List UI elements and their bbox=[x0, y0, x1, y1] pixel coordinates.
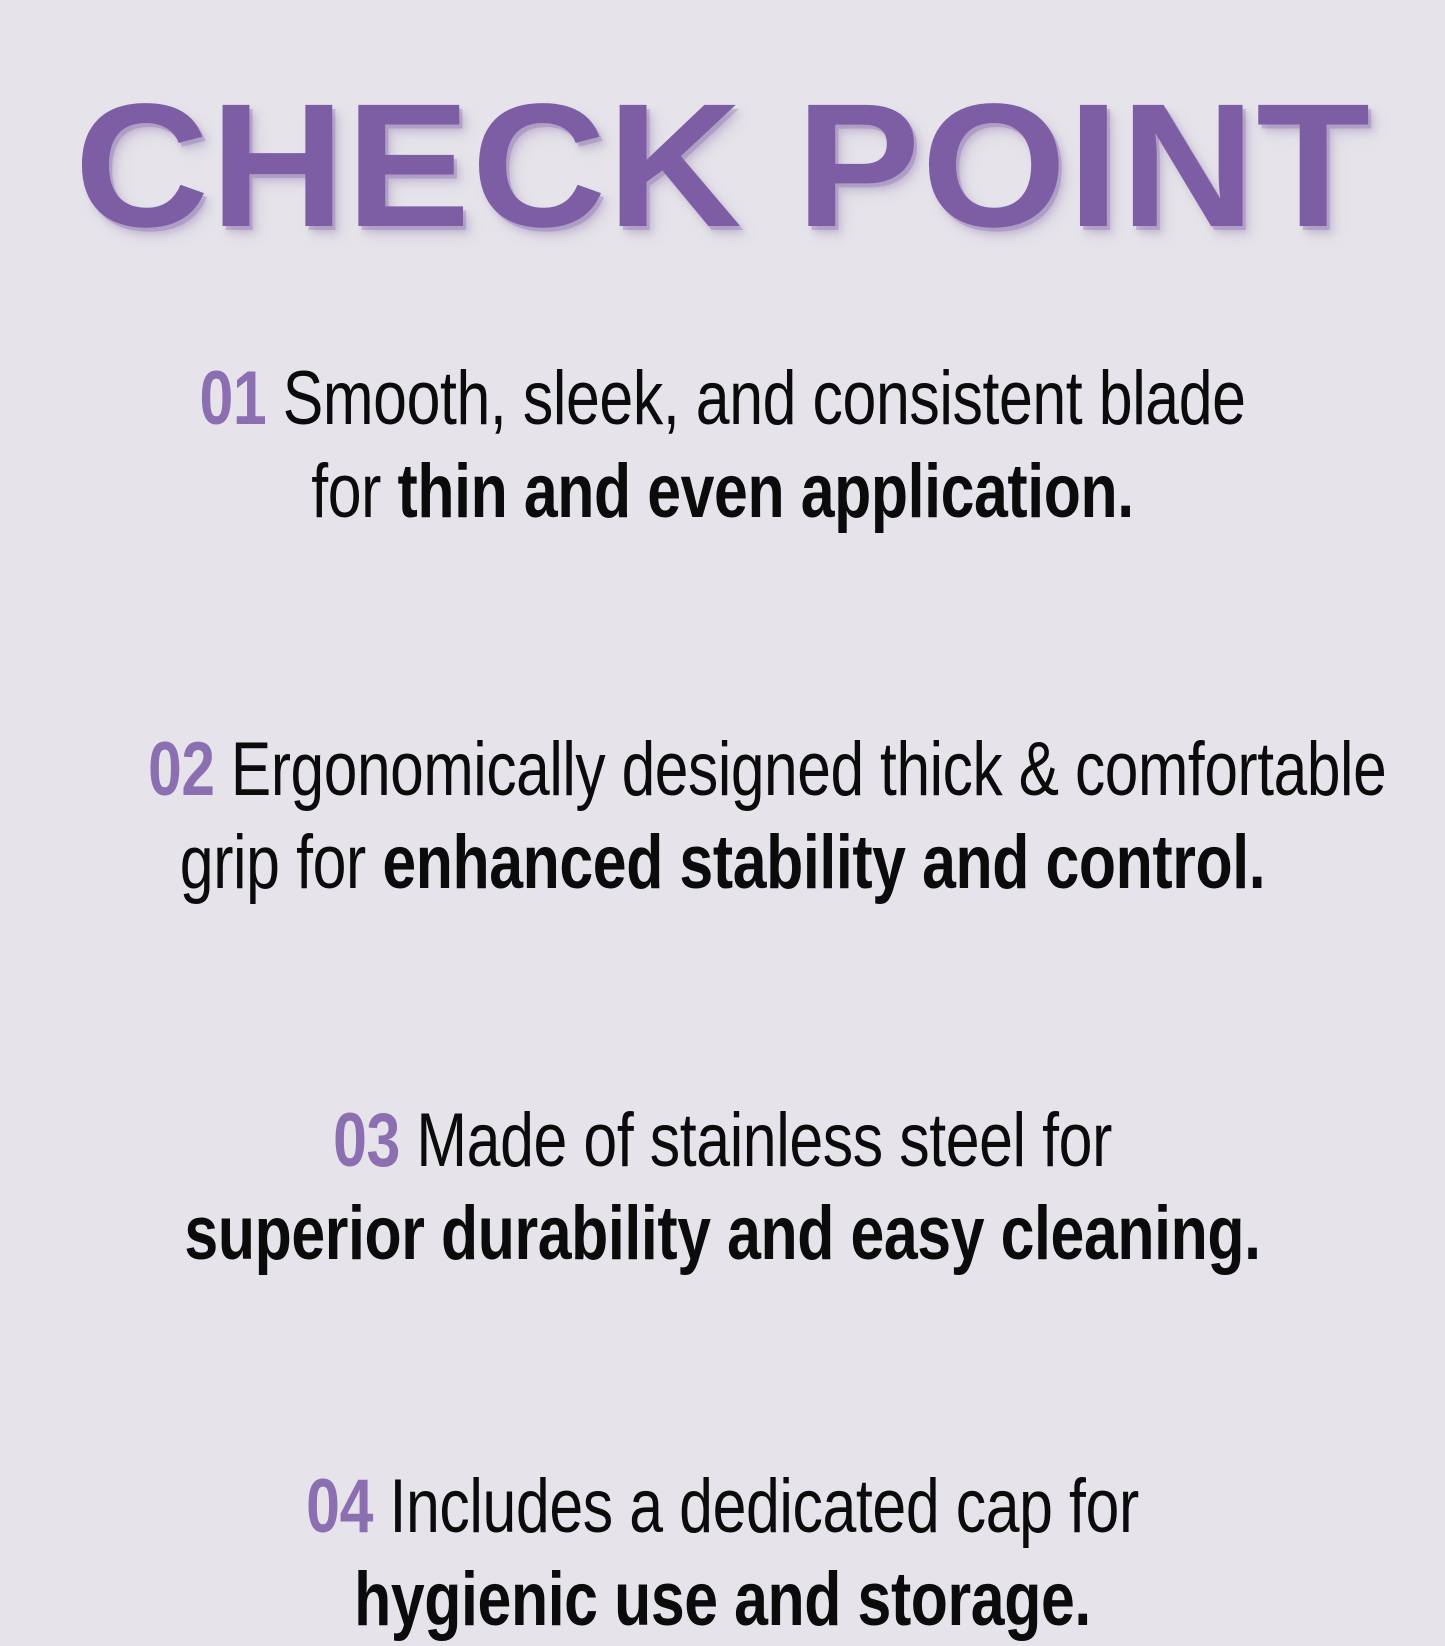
list-item: 02 Ergonomically designed thick & comfor… bbox=[0, 723, 1445, 909]
checkpoint-number: 02 bbox=[148, 727, 214, 812]
page-title-container: CHECK POINT bbox=[0, 78, 1445, 254]
list-item: 04 Includes a dedicated cap for hygienic… bbox=[0, 1460, 1445, 1646]
checkpoint-text-regular: Includes a dedicated cap for bbox=[373, 1464, 1139, 1549]
checkpoint-text-regular: grip for bbox=[180, 820, 383, 905]
checkpoint-number: 03 bbox=[333, 1098, 400, 1183]
list-item: 03 Made of stainless steel for superior … bbox=[0, 1094, 1445, 1280]
checkpoint-line-secondary: grip for enhanced stability and control. bbox=[145, 816, 1301, 909]
page-title: CHECK POINT bbox=[74, 78, 1371, 254]
checkpoint-text-emphasis: enhanced stability and control. bbox=[382, 820, 1265, 905]
checkpoint-number: 04 bbox=[306, 1464, 373, 1549]
checkpoint-poster: CHECK POINT 01 Smooth, sleek, and consis… bbox=[0, 0, 1445, 1445]
checkpoint-line-primary: 04 Includes a dedicated cap for bbox=[145, 1460, 1301, 1553]
checkpoint-text-emphasis: thin and even application. bbox=[398, 449, 1134, 534]
checkpoint-list: 01 Smooth, sleek, and consistent blade f… bbox=[0, 352, 1445, 1646]
checkpoint-line-primary: 01 Smooth, sleek, and consistent blade bbox=[145, 352, 1301, 445]
checkpoint-text-regular: Ergonomically designed thick & comfortab… bbox=[215, 727, 1387, 812]
checkpoint-line-secondary: superior durability and easy cleaning. bbox=[145, 1187, 1301, 1280]
checkpoint-text-regular: Smooth, sleek, and consistent blade bbox=[266, 356, 1245, 441]
checkpoint-text-emphasis: superior durability and easy cleaning. bbox=[184, 1191, 1260, 1276]
checkpoint-text-regular: Made of stainless steel for bbox=[400, 1098, 1112, 1183]
checkpoint-line-primary: 02 Ergonomically designed thick & comfor… bbox=[148, 723, 1297, 816]
checkpoint-number: 01 bbox=[199, 356, 266, 441]
checkpoint-line-primary: 03 Made of stainless steel for bbox=[145, 1094, 1301, 1187]
checkpoint-text-emphasis: hygienic use and storage. bbox=[354, 1557, 1091, 1642]
checkpoint-text-regular: for bbox=[311, 449, 397, 534]
list-item: 01 Smooth, sleek, and consistent blade f… bbox=[0, 352, 1445, 538]
checkpoint-line-secondary: hygienic use and storage. bbox=[145, 1553, 1301, 1646]
checkpoint-line-secondary: for thin and even application. bbox=[145, 445, 1301, 538]
